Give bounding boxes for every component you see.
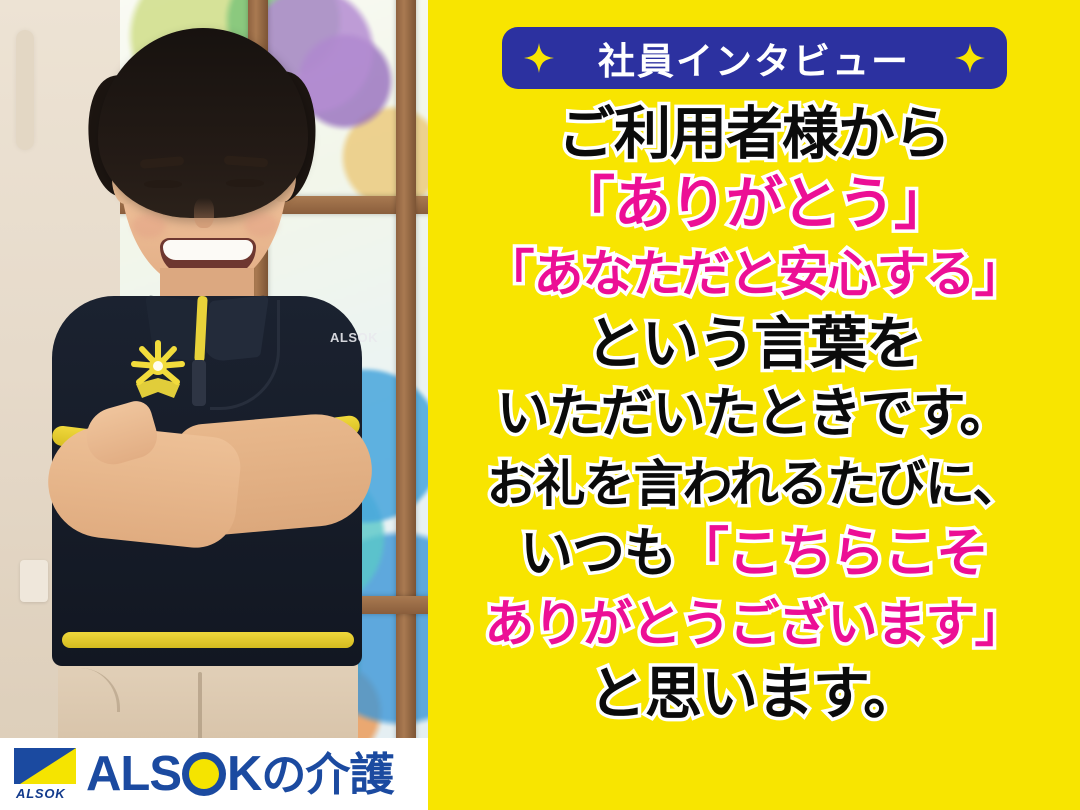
- hair: [98, 28, 308, 218]
- yellow-sunburst-emblem: [122, 336, 194, 408]
- sparkle-icon: [955, 43, 985, 73]
- logo-als: ALS: [86, 750, 181, 799]
- quote-line: と思います。: [589, 659, 919, 729]
- logo-japanese-suffix: の介護: [261, 752, 393, 797]
- poster-root: ALSOK ALSOK ALS K の介護: [0, 0, 1080, 810]
- logo-mark-wordmark: ALSOK: [16, 786, 66, 801]
- interview-badge-label: 社員インタビュー: [598, 31, 910, 85]
- quote-block: ご利用者様から 「ありがとう」 「あなただと安心する」 という言葉を いただいた…: [428, 99, 1080, 729]
- shirt-hem-trim: [62, 632, 354, 648]
- quote-line: という言葉を: [586, 309, 922, 379]
- quote-line: ご利用者様から: [558, 99, 950, 169]
- quote-line: いつも「こちらこそ: [520, 519, 988, 589]
- quote-line: いただいたときです。: [497, 379, 1012, 449]
- eye-right: [226, 179, 264, 187]
- nose: [194, 198, 214, 228]
- teeth: [163, 240, 253, 260]
- quote-line: 「あなただと安心する」: [485, 239, 1024, 309]
- alsok-logo-bar: ALSOK ALS K の介護: [0, 738, 428, 810]
- lanyard-badge-clip: [192, 360, 206, 406]
- sparkle-icon: [524, 43, 554, 73]
- staff-photo: ALSOK ALSOK ALS K の介護: [0, 0, 428, 810]
- cheek-left: [132, 214, 166, 238]
- eye-left: [144, 180, 182, 188]
- yellow-content-panel: 社員インタビュー ご利用者様から 「ありがとう」 「あなただと安心する」 という…: [428, 0, 1080, 810]
- alsok-brand-text: ALS K の介護: [86, 750, 393, 799]
- quote-segment-pink: 「こちらこそ: [676, 523, 988, 584]
- quote-line: お礼を言われるたびに、: [487, 449, 1022, 519]
- quote-segment-black: いつも: [520, 523, 676, 584]
- alsok-logo-mark: ALSOK: [14, 748, 76, 800]
- cheek-right: [244, 213, 278, 237]
- person-figure: ALSOK: [0, 0, 428, 810]
- logo-o-circle-icon: [182, 752, 226, 796]
- quote-line: ありがとうございます」: [485, 589, 1024, 659]
- sleeve-alsok-logo: ALSOK: [330, 330, 370, 346]
- interview-badge: 社員インタビュー: [502, 27, 1007, 89]
- logo-k: K: [227, 750, 261, 799]
- quote-line: 「ありがとう」: [558, 169, 950, 239]
